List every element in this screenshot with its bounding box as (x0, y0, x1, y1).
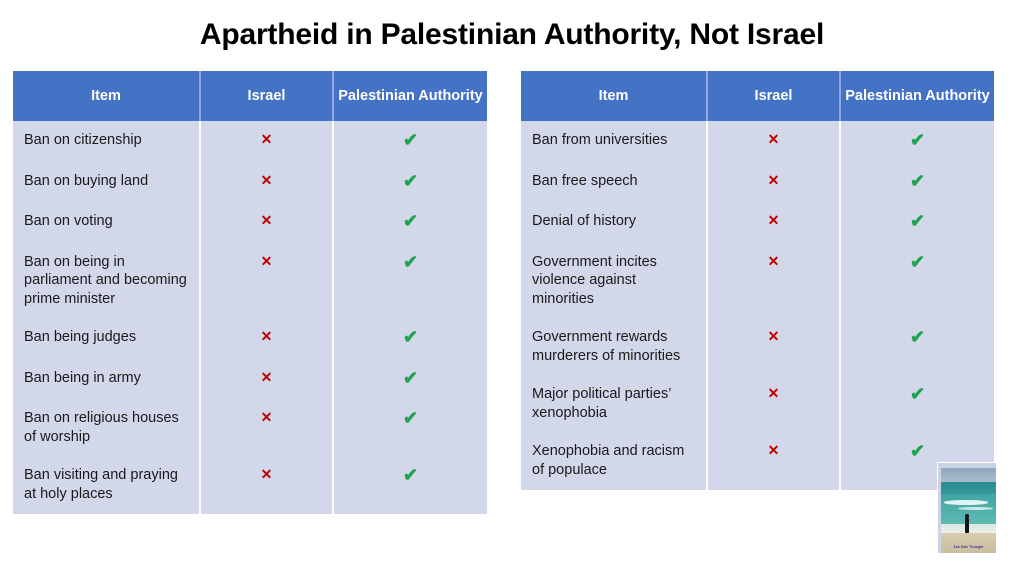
cell-israel: ✕ (707, 318, 840, 375)
check-icon: ✔ (403, 328, 418, 346)
check-icon: ✔ (910, 328, 925, 346)
column-header-palestinian-authority: Palestinian Authority (840, 71, 994, 121)
cross-icon: ✕ (768, 254, 780, 269)
cross-icon: ✕ (261, 173, 273, 188)
wave-crest-icon (944, 500, 988, 504)
cell-palestinian-authority: ✔ (333, 121, 487, 162)
cell-palestinian-authority: ✔ (840, 121, 994, 162)
cross-icon: ✕ (768, 213, 780, 228)
cell-item: Ban visiting and praying at holy places (13, 456, 200, 513)
cell-israel: ✕ (200, 162, 333, 203)
check-icon: ✔ (910, 385, 925, 403)
cross-icon: ✕ (768, 132, 780, 147)
photo-caption: Sea Side Thought (941, 545, 996, 549)
table-header-row: Item Israel Palestinian Authority (13, 71, 487, 121)
cross-icon: ✕ (261, 132, 273, 147)
check-icon: ✔ (910, 253, 925, 271)
check-icon: ✔ (403, 369, 418, 387)
check-icon: ✔ (403, 212, 418, 230)
cell-israel: ✕ (707, 375, 840, 432)
check-icon: ✔ (403, 172, 418, 190)
cell-item: Ban on voting (13, 202, 200, 243)
check-icon: ✔ (403, 466, 418, 484)
cross-icon: ✕ (261, 213, 273, 228)
cell-israel: ✕ (200, 399, 333, 456)
cross-icon: ✕ (768, 443, 780, 458)
cell-israel: ✕ (200, 243, 333, 319)
sand-region (941, 533, 996, 553)
check-icon: ✔ (403, 131, 418, 149)
table-row: Ban free speech✕✔ (521, 162, 994, 203)
cell-palestinian-authority: ✔ (333, 202, 487, 243)
cross-icon: ✕ (261, 254, 273, 269)
cross-icon: ✕ (261, 370, 273, 385)
cross-icon: ✕ (768, 173, 780, 188)
cell-israel: ✕ (707, 243, 840, 319)
column-header-palestinian-authority: Palestinian Authority (333, 71, 487, 121)
cell-item: Government incites violence against mino… (521, 243, 707, 319)
cross-icon: ✕ (261, 467, 273, 482)
cell-item: Government rewards murderers of minoriti… (521, 318, 707, 375)
page-title: Apartheid in Palestinian Authority, Not … (0, 18, 1024, 51)
check-icon: ✔ (910, 172, 925, 190)
cross-icon: ✕ (768, 386, 780, 401)
cell-palestinian-authority: ✔ (840, 243, 994, 319)
table-row: Government incites violence against mino… (521, 243, 994, 319)
cell-item: Ban on being in parliament and becoming … (13, 243, 200, 319)
cell-israel: ✕ (200, 456, 333, 513)
comparison-table-left: Item Israel Palestinian Authority Ban on… (13, 71, 487, 514)
table-row: Major political parties’ xenophobia✕✔ (521, 375, 994, 432)
cell-palestinian-authority: ✔ (840, 375, 994, 432)
table-row: Ban on citizenship✕✔ (13, 121, 487, 162)
table-row: Ban on voting✕✔ (13, 202, 487, 243)
sky-region (941, 468, 996, 482)
cell-israel: ✕ (200, 121, 333, 162)
person-silhouette-icon (965, 516, 969, 533)
cell-israel: ✕ (200, 318, 333, 359)
cell-palestinian-authority: ✔ (333, 162, 487, 203)
photo-image: Sea Side Thought (941, 468, 996, 553)
table-row: Ban on being in parliament and becoming … (13, 243, 487, 319)
cell-palestinian-authority: ✔ (333, 399, 487, 456)
column-header-item: Item (13, 71, 200, 121)
cell-palestinian-authority: ✔ (333, 359, 487, 400)
table-row: Denial of history✕✔ (521, 202, 994, 243)
cell-item: Ban being in army (13, 359, 200, 400)
table-header-row: Item Israel Palestinian Authority (521, 71, 994, 121)
cell-item: Major political parties’ xenophobia (521, 375, 707, 432)
cell-item: Ban free speech (521, 162, 707, 203)
table-row: Ban being in army✕✔ (13, 359, 487, 400)
table-row: Ban being judges✕✔ (13, 318, 487, 359)
sea-far-region (941, 482, 996, 494)
beach-photo-thumbnail: Sea Side Thought (937, 462, 997, 554)
cell-palestinian-authority: ✔ (333, 318, 487, 359)
check-icon: ✔ (403, 409, 418, 427)
cell-item: Ban from universities (521, 121, 707, 162)
cell-palestinian-authority: ✔ (840, 202, 994, 243)
cell-item: Xenophobia and racism of populace (521, 432, 707, 489)
cell-palestinian-authority: ✔ (840, 162, 994, 203)
cell-israel: ✕ (707, 202, 840, 243)
check-icon: ✔ (910, 212, 925, 230)
cell-israel: ✕ (200, 359, 333, 400)
check-icon: ✔ (910, 442, 925, 460)
cross-icon: ✕ (768, 329, 780, 344)
cell-item: Ban on buying land (13, 162, 200, 203)
comparison-table-right: Item Israel Palestinian Authority Ban fr… (521, 71, 994, 490)
table-row: Ban on religious houses of worship✕✔ (13, 399, 487, 456)
cell-israel: ✕ (707, 162, 840, 203)
check-icon: ✔ (910, 131, 925, 149)
cell-israel: ✕ (707, 121, 840, 162)
table-row: Ban visiting and praying at holy places✕… (13, 456, 487, 513)
table-row: Ban on buying land✕✔ (13, 162, 487, 203)
column-header-israel: Israel (707, 71, 840, 121)
cell-palestinian-authority: ✔ (333, 456, 487, 513)
cell-palestinian-authority: ✔ (333, 243, 487, 319)
cell-item: Ban being judges (13, 318, 200, 359)
cell-israel: ✕ (200, 202, 333, 243)
cross-icon: ✕ (261, 329, 273, 344)
column-header-israel: Israel (200, 71, 333, 121)
check-icon: ✔ (403, 253, 418, 271)
cross-icon: ✕ (261, 410, 273, 425)
cell-item: Ban on religious houses of worship (13, 399, 200, 456)
cell-israel: ✕ (707, 432, 840, 489)
table-row: Government rewards murderers of minoriti… (521, 318, 994, 375)
cell-item: Denial of history (521, 202, 707, 243)
cell-palestinian-authority: ✔ (840, 318, 994, 375)
table-row: Ban from universities✕✔ (521, 121, 994, 162)
table-row: Xenophobia and racism of populace✕✔ (521, 432, 994, 489)
cell-item: Ban on citizenship (13, 121, 200, 162)
column-header-item: Item (521, 71, 707, 121)
